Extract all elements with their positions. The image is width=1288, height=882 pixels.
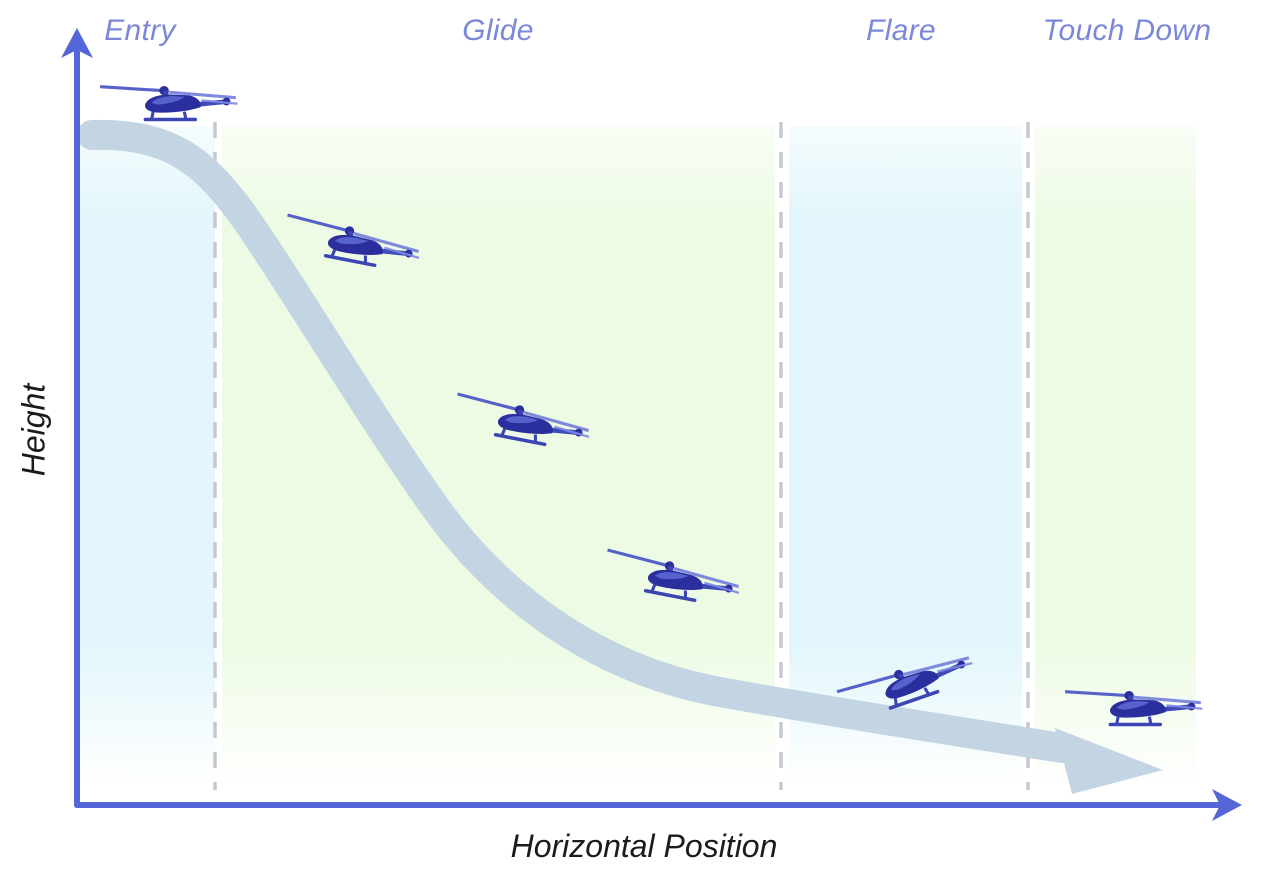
phase-label-touch-down: Touch Down — [1043, 14, 1212, 48]
x-axis-title: Horizontal Position — [511, 828, 778, 865]
phase-band-touch-down — [1035, 126, 1196, 788]
phase-band-entry — [80, 126, 215, 788]
y-axis-title: Height — [16, 384, 53, 477]
diagram-canvas — [0, 0, 1288, 882]
autorotation-landing-diagram: Entry Glide Flare Touch Down Horizontal … — [0, 0, 1288, 882]
helicopter-entry — [100, 85, 251, 119]
phase-label-entry: Entry — [104, 14, 176, 48]
phase-label-glide: Glide — [462, 14, 534, 48]
phase-label-flare: Flare — [866, 14, 936, 48]
